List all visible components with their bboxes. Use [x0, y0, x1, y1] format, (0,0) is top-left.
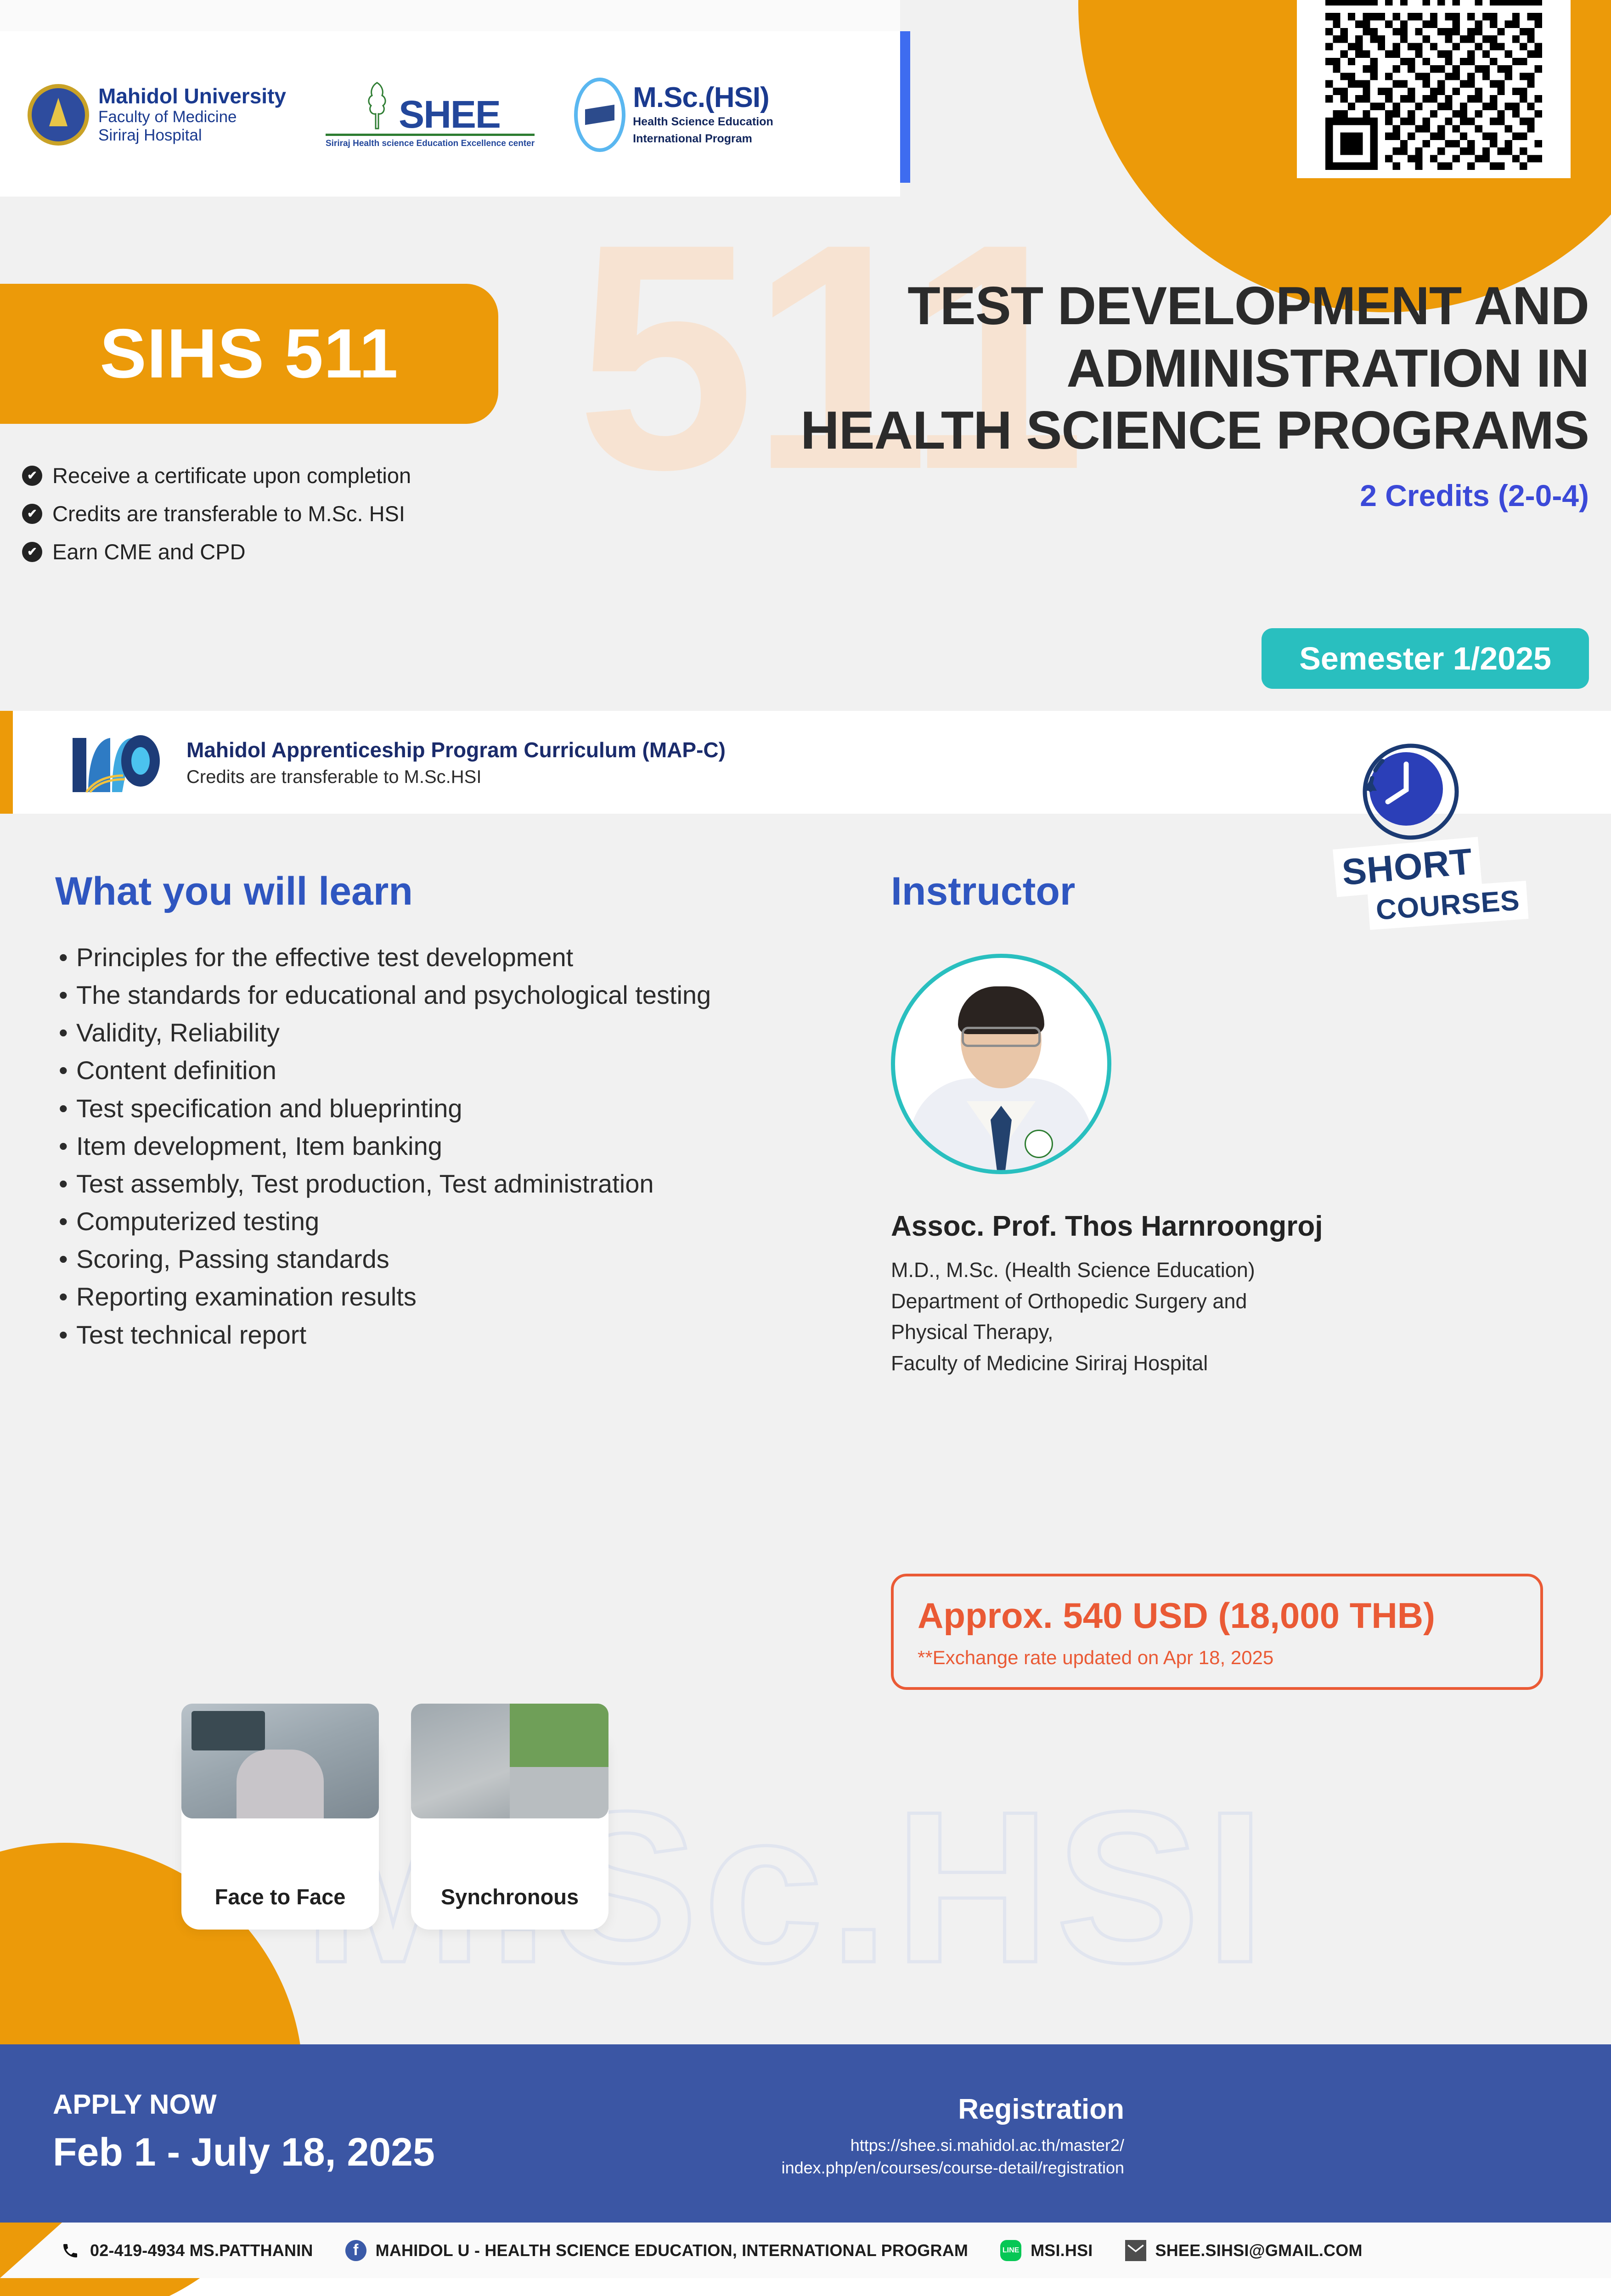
msc-hsi-line1: Health Science Education	[633, 115, 773, 129]
mode-label: Face to Face	[215, 1884, 346, 1909]
hero-bullet: ✔ Credits are transferable to M.Sc. HSI	[22, 501, 411, 526]
instructor-credentials: M.D., M.Sc. (Health Science Education) D…	[891, 1255, 1543, 1379]
map-c-subtitle: Credits are transferable to M.Sc.HSI	[186, 767, 726, 788]
learn-item: Test specification and blueprinting	[55, 1091, 799, 1126]
graduation-cap-icon	[574, 78, 625, 152]
logo-row: Mahidol University Faculty of Medicine S…	[28, 51, 773, 179]
mode-card-face-to-face: Face to Face	[181, 1732, 379, 1930]
check-circle-icon: ✔	[22, 504, 42, 524]
check-circle-icon: ✔	[22, 466, 42, 486]
map-c-title: Mahidol Apprenticeship Program Curriculu…	[186, 737, 726, 762]
instructor-avatar	[891, 954, 1111, 1174]
mode-card-synchronous: Synchronous	[411, 1732, 608, 1930]
mahidol-faculty: Faculty of Medicine	[98, 108, 286, 126]
learn-list: Principles for the effective test develo…	[55, 940, 799, 1352]
short-courses-stamp: SHORT COURSES	[1318, 735, 1511, 937]
contact-line[interactable]: LINE MSI.HSI	[1000, 2240, 1093, 2261]
learn-item: Scoring, Passing standards	[55, 1242, 799, 1277]
contact-phone-text: 02-419-4934 MS.PATTHANIN	[90, 2241, 313, 2260]
map-accent-bar	[0, 711, 13, 814]
contact-email[interactable]: SHEE.SIHSI@GMAIL.COM	[1125, 2240, 1363, 2261]
msc-hsi-wordmark: M.Sc.(HSI)	[633, 84, 773, 112]
learn-item: Test assembly, Test production, Test adm…	[55, 1166, 799, 1201]
msc-hsi-line2: International Program	[633, 132, 773, 146]
shee-caption: Siriraj Health science Education Excelle…	[326, 139, 535, 149]
price-box: Approx. 540 USD (18,000 THB) **Exchange …	[891, 1574, 1543, 1690]
shee-logo: SHEE Siriraj Health science Education Ex…	[326, 81, 535, 149]
clock-icon	[1352, 735, 1467, 850]
hero-bullet-list: ✔ Receive a certificate upon completion …	[22, 463, 411, 577]
apply-dates: Feb 1 - July 18, 2025	[53, 2130, 435, 2175]
contact-bar: 02-419-4934 MS.PATTHANIN f MAHIDOL U - H…	[0, 2223, 1611, 2278]
course-title-line: ADMINISTRATION IN	[670, 337, 1589, 400]
check-circle-icon: ✔	[22, 542, 42, 562]
learn-heading: What you will learn	[55, 869, 799, 914]
semester-badge: Semester 1/2025	[1262, 628, 1589, 689]
main-content: What you will learn Principles for the e…	[0, 814, 1611, 2044]
price-note: **Exchange rate updated on Apr 18, 2025	[918, 1647, 1516, 1669]
registration-title: Registration	[958, 2093, 1124, 2126]
learn-item: Content definition	[55, 1053, 799, 1088]
face-to-face-photo	[181, 1704, 379, 1818]
header-top-strip	[0, 0, 900, 31]
learn-item: Computerized testing	[55, 1204, 799, 1239]
contact-phone[interactable]: 02-419-4934 MS.PATTHANIN	[60, 2240, 313, 2261]
learn-item: Principles for the effective test develo…	[55, 940, 799, 975]
shee-rule	[326, 134, 535, 136]
course-title-block: TEST DEVELOPMENT AND ADMINISTRATION IN H…	[670, 275, 1589, 513]
registration-qr-code[interactable]	[1297, 0, 1571, 178]
email-icon	[1125, 2240, 1146, 2261]
phone-icon	[60, 2240, 81, 2261]
hero-bullet: ✔ Earn CME and CPD	[22, 539, 411, 564]
mahidol-hospital: Siriraj Hospital	[98, 126, 286, 145]
learn-item: Item development, Item banking	[55, 1129, 799, 1164]
qr-code-image	[1305, 0, 1562, 170]
course-title-line: HEALTH SCIENCE PROGRAMS	[670, 399, 1589, 461]
delivery-modes: Face to Face Synchronous	[181, 1732, 608, 1930]
mahidol-seal-icon	[28, 84, 89, 146]
mahidol-logo: Mahidol University Faculty of Medicine S…	[28, 84, 286, 146]
learn-item: The standards for educational and psycho…	[55, 978, 799, 1013]
contact-line-text: MSI.HSI	[1031, 2241, 1093, 2260]
learn-item: Validity, Reliability	[55, 1015, 799, 1050]
learn-column: What you will learn Principles for the e…	[55, 869, 799, 1355]
course-code-label: SIHS 511	[100, 314, 398, 394]
price-amount: Approx. 540 USD (18,000 THB)	[918, 1595, 1516, 1637]
semester-label: Semester 1/2025	[1299, 641, 1551, 676]
tree-icon	[360, 81, 394, 132]
mahidol-name: Mahidol University	[98, 85, 286, 108]
header-accent-bar	[900, 31, 910, 183]
mode-label: Synchronous	[441, 1884, 579, 1909]
instructor-column: Instructor Assoc. Prof. Thos Harnroongro…	[891, 869, 1543, 1379]
learn-item: Test technical report	[55, 1317, 799, 1352]
contact-facebook-text: MAHIDOL U - HEALTH SCIENCE EDUCATION, IN…	[376, 2241, 968, 2260]
hero-section: SIHS 511 ✔ Receive a certificate upon co…	[0, 197, 1611, 711]
contact-email-text: SHEE.SIHSI@GMAIL.COM	[1155, 2241, 1363, 2260]
shee-wordmark: SHEE	[399, 97, 500, 132]
contact-facebook[interactable]: f MAHIDOL U - HEALTH SCIENCE EDUCATION, …	[345, 2240, 968, 2261]
apply-now-label: APPLY NOW	[53, 2088, 217, 2120]
footer-banner: APPLY NOW Feb 1 - July 18, 2025 Registra…	[0, 2044, 1611, 2223]
course-code-badge: SIHS 511	[0, 284, 498, 424]
registration-url[interactable]: https://shee.si.mahidol.ac.th/master2/ i…	[782, 2134, 1124, 2179]
msc-hsi-logo: M.Sc.(HSI) Health Science Education Inte…	[574, 78, 773, 152]
course-credits: 2 Credits (2-0-4)	[670, 478, 1589, 513]
facebook-icon: f	[345, 2240, 366, 2261]
learn-item: Reporting examination results	[55, 1279, 799, 1314]
line-icon: LINE	[1000, 2240, 1021, 2261]
hero-bullet: ✔ Receive a certificate upon completion	[22, 463, 411, 488]
map-logo-icon	[68, 728, 164, 797]
synchronous-photo	[411, 1704, 608, 1818]
hero-bullet-label: Credits are transferable to M.Sc. HSI	[52, 501, 405, 526]
course-title-line: TEST DEVELOPMENT AND	[670, 275, 1589, 337]
hero-bullet-label: Earn CME and CPD	[52, 539, 246, 564]
instructor-name: Assoc. Prof. Thos Harnroongroj	[891, 1210, 1543, 1243]
hero-bullet-label: Receive a certificate upon completion	[52, 463, 411, 488]
